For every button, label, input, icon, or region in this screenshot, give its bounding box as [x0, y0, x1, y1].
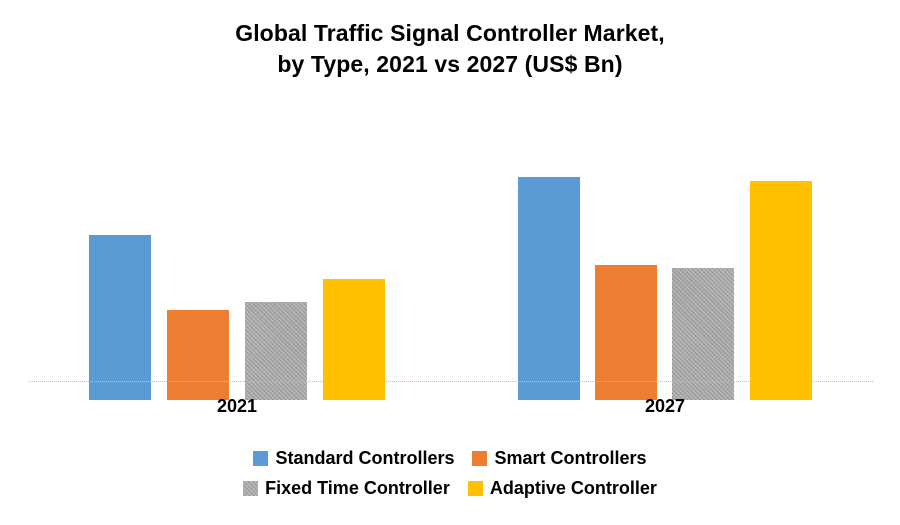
- legend-label-adaptive-controller: Adaptive Controller: [490, 478, 657, 499]
- legend-row-2: Fixed Time Controller Adaptive Controlle…: [0, 473, 900, 503]
- bar-2021-standard-controllers[interactable]: [89, 235, 151, 400]
- chart-container: Global Traffic Signal Controller Market,…: [0, 0, 900, 525]
- legend-item-fixed-time-controller[interactable]: Fixed Time Controller: [243, 478, 450, 499]
- legend-swatch-icon-adaptive-controller: [468, 481, 483, 496]
- bar-2027-adaptive-controller[interactable]: [750, 181, 812, 400]
- legend-item-adaptive-controller[interactable]: Adaptive Controller: [468, 478, 657, 499]
- legend-swatch-icon-smart-controllers: [472, 451, 487, 466]
- bar-2027-standard-controllers[interactable]: [518, 177, 580, 400]
- legend-label-fixed-time-controller: Fixed Time Controller: [265, 478, 450, 499]
- legend-item-smart-controllers[interactable]: Smart Controllers: [472, 448, 646, 469]
- category-label-2021: 2021: [167, 396, 307, 417]
- legend-swatch-icon-standard-controllers: [253, 451, 268, 466]
- bar-2021-fixed-time-controller[interactable]: [245, 302, 307, 400]
- legend-swatch-icon-fixed-time-controller: [243, 481, 258, 496]
- chart-legend: Standard Controllers Smart Controllers F…: [0, 443, 900, 503]
- category-axis-line: [28, 381, 873, 382]
- legend-row-1: Standard Controllers Smart Controllers: [0, 443, 900, 473]
- bar-2021-smart-controllers[interactable]: [167, 310, 229, 400]
- category-label-2027: 2027: [595, 396, 735, 417]
- bar-2027-smart-controllers[interactable]: [595, 265, 657, 400]
- legend-label-standard-controllers: Standard Controllers: [275, 448, 454, 469]
- legend-item-standard-controllers[interactable]: Standard Controllers: [253, 448, 454, 469]
- plot-area: [0, 0, 900, 400]
- legend-label-smart-controllers: Smart Controllers: [494, 448, 646, 469]
